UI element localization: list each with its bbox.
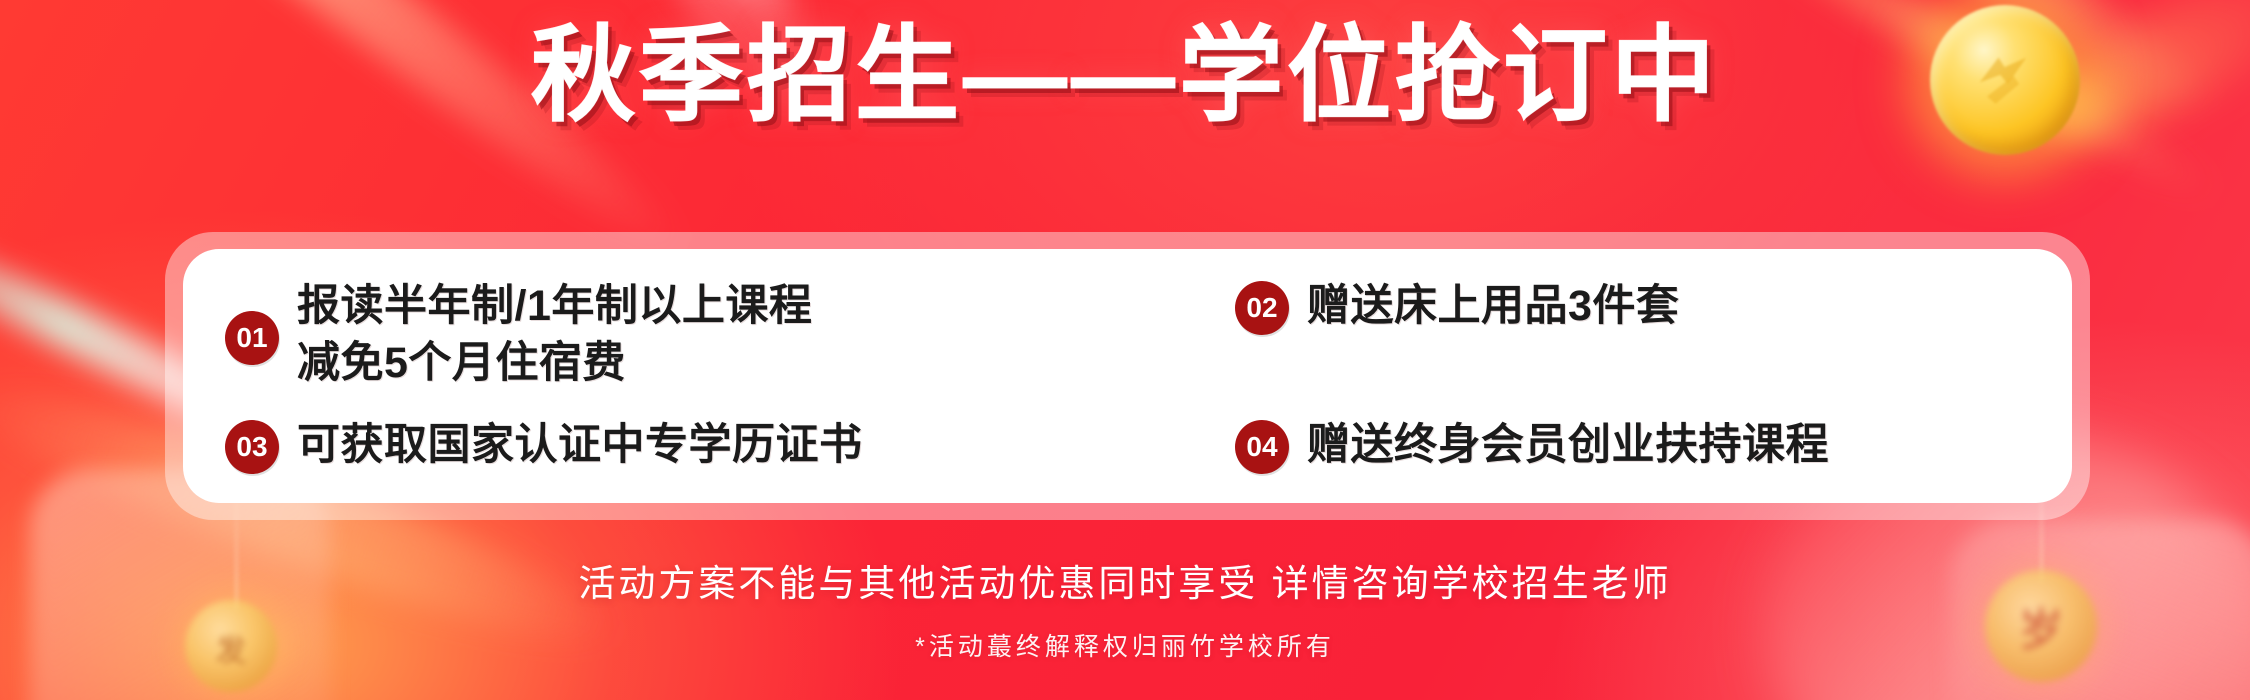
- benefit-text: 报读半年制/1年制以上课程 减免5个月住宿费: [297, 278, 812, 392]
- benefit-line-1: 赠送床上用品3件套: [1307, 282, 1679, 330]
- benefit-line-1: 赠送终身会员创业扶持课程: [1307, 421, 1829, 469]
- benefit-item-03: 03 可获取国家认证中专学历证书: [225, 417, 1235, 474]
- benefit-number-badge: 04: [1235, 420, 1289, 474]
- benefit-text: 赠送床上用品3件套: [1307, 278, 1679, 335]
- benefit-item-02: 02 赠送床上用品3件套: [1235, 278, 2055, 335]
- benefit-text: 可获取国家认证中专学历证书: [297, 417, 863, 474]
- benefit-number-badge: 02: [1235, 281, 1289, 335]
- benefit-text: 赠送终身会员创业扶持课程: [1307, 417, 1829, 474]
- disclaimer-main: 活动方案不能与其他活动优惠同时享受 详情咨询学校招生老师: [0, 553, 2250, 607]
- benefits-row: 03 可获取国家认证中专学历证书 04 赠送终身会员创业扶持课程: [225, 417, 2072, 474]
- benefit-number-badge: 01: [225, 311, 279, 365]
- disclaimer-fine-print: *活动蕞终解释权归丽竹学校所有: [0, 627, 2250, 663]
- benefit-line-1: 可获取国家认证中专学历证书: [297, 421, 863, 469]
- benefit-line-2: 减免5个月住宿费: [297, 335, 812, 392]
- benefits-row: 01 报读半年制/1年制以上课程 减免5个月住宿费 02 赠送床上用品3件套: [225, 278, 2072, 392]
- page-title: 秋季招生——学位抢订中: [0, 18, 2250, 134]
- benefits-card: 01 报读半年制/1年制以上课程 减免5个月住宿费 02 赠送床上用品3件套 0…: [183, 249, 2072, 503]
- benefit-line-1: 报读半年制/1年制以上课程: [297, 282, 812, 330]
- benefit-number-badge: 03: [225, 420, 279, 474]
- benefit-item-01: 01 报读半年制/1年制以上课程 减免5个月住宿费: [225, 278, 1235, 392]
- benefit-item-04: 04 赠送终身会员创业扶持课程: [1235, 417, 2055, 474]
- promo-banner: 发 岁 秋季招生——学位抢订中 01 报读半年制/1年制以上课程 减免5个月住宿…: [0, 0, 2250, 700]
